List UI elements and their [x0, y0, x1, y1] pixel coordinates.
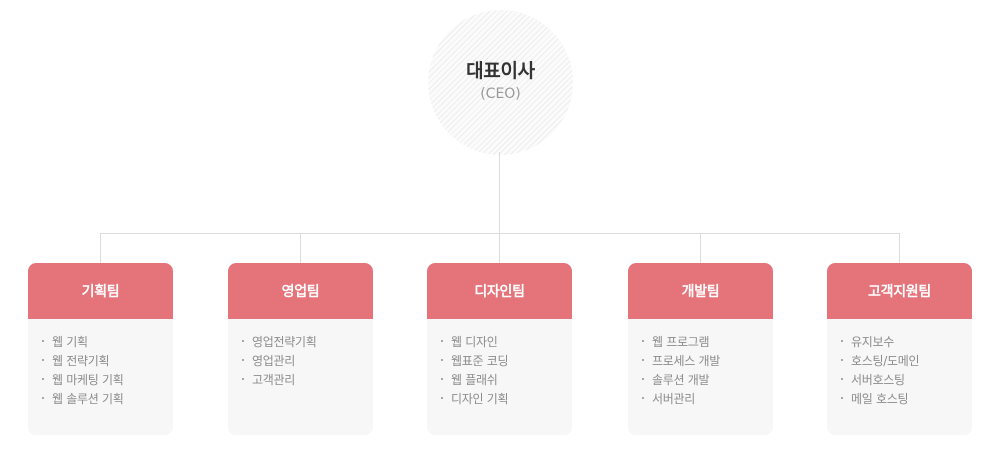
list-item: 솔루션 개발	[642, 371, 773, 390]
department-item-list: 웹 디자인 웹표준 코딩 웹 플래쉬 디자인 기획	[427, 319, 572, 409]
org-chart: 대표이사 (CEO) 기획팀 웹 기획 웹 전략기획 웹 마케팅 기획 웹 솔루…	[0, 0, 1000, 450]
list-item: 웹 프로그램	[642, 333, 773, 352]
ceo-node: 대표이사 (CEO)	[428, 10, 573, 155]
department-name: 디자인팀	[474, 281, 524, 301]
connector-drop-2	[300, 233, 301, 265]
connector-drop-5	[899, 233, 900, 265]
list-item: 고객관리	[242, 371, 373, 390]
ceo-subtitle: (CEO)	[480, 84, 521, 105]
department-header: 영업팀	[228, 263, 373, 319]
department-item-list: 유지보수 호스팅/도메인 서버호스팅 메일 호스팅	[827, 319, 972, 409]
department-name: 개발팀	[682, 281, 720, 301]
list-item: 웹 전략기획	[42, 352, 173, 371]
department-item-list: 웹 기획 웹 전략기획 웹 마케팅 기획 웹 솔루션 기획	[28, 319, 173, 409]
department-header: 고객지원팀	[827, 263, 972, 319]
connector-drop-3	[499, 233, 500, 265]
department-card-design: 디자인팀 웹 디자인 웹표준 코딩 웹 플래쉬 디자인 기획	[427, 263, 572, 435]
list-item: 영업관리	[242, 352, 373, 371]
list-item: 유지보수	[841, 333, 972, 352]
list-item: 메일 호스팅	[841, 390, 972, 409]
department-header: 기획팀	[28, 263, 173, 319]
department-item-list: 웹 프로그램 프로세스 개발 솔루션 개발 서버관리	[628, 319, 773, 409]
department-card-planning: 기획팀 웹 기획 웹 전략기획 웹 마케팅 기획 웹 솔루션 기획	[28, 263, 173, 435]
list-item: 웹 디자인	[441, 333, 572, 352]
list-item: 호스팅/도메인	[841, 352, 972, 371]
connector-drop-1	[100, 233, 101, 265]
connector-vertical-main	[499, 152, 500, 234]
connector-drop-4	[700, 233, 701, 265]
ceo-title: 대표이사	[466, 60, 535, 84]
department-card-sales: 영업팀 영업전략기획 영업관리 고객관리	[228, 263, 373, 435]
list-item: 웹 기획	[42, 333, 173, 352]
list-item: 서버관리	[642, 390, 773, 409]
list-item: 디자인 기획	[441, 390, 572, 409]
department-card-customer-support: 고객지원팀 유지보수 호스팅/도메인 서버호스팅 메일 호스팅	[827, 263, 972, 435]
list-item: 영업전략기획	[242, 333, 373, 352]
department-item-list: 영업전략기획 영업관리 고객관리	[228, 319, 373, 390]
department-header: 개발팀	[628, 263, 773, 319]
list-item: 웹 플래쉬	[441, 371, 572, 390]
list-item: 프로세스 개발	[642, 352, 773, 371]
department-card-development: 개발팀 웹 프로그램 프로세스 개발 솔루션 개발 서버관리	[628, 263, 773, 435]
list-item: 웹표준 코딩	[441, 352, 572, 371]
department-name: 기획팀	[82, 281, 120, 301]
list-item: 웹 마케팅 기획	[42, 371, 173, 390]
list-item: 웹 솔루션 기획	[42, 390, 173, 409]
department-header: 디자인팀	[427, 263, 572, 319]
connector-horizontal-bus	[100, 233, 900, 234]
department-row: 기획팀 웹 기획 웹 전략기획 웹 마케팅 기획 웹 솔루션 기획 영업팀 영업…	[0, 263, 1000, 438]
department-name: 영업팀	[282, 281, 320, 301]
list-item: 서버호스팅	[841, 371, 972, 390]
department-name: 고객지원팀	[868, 281, 931, 301]
